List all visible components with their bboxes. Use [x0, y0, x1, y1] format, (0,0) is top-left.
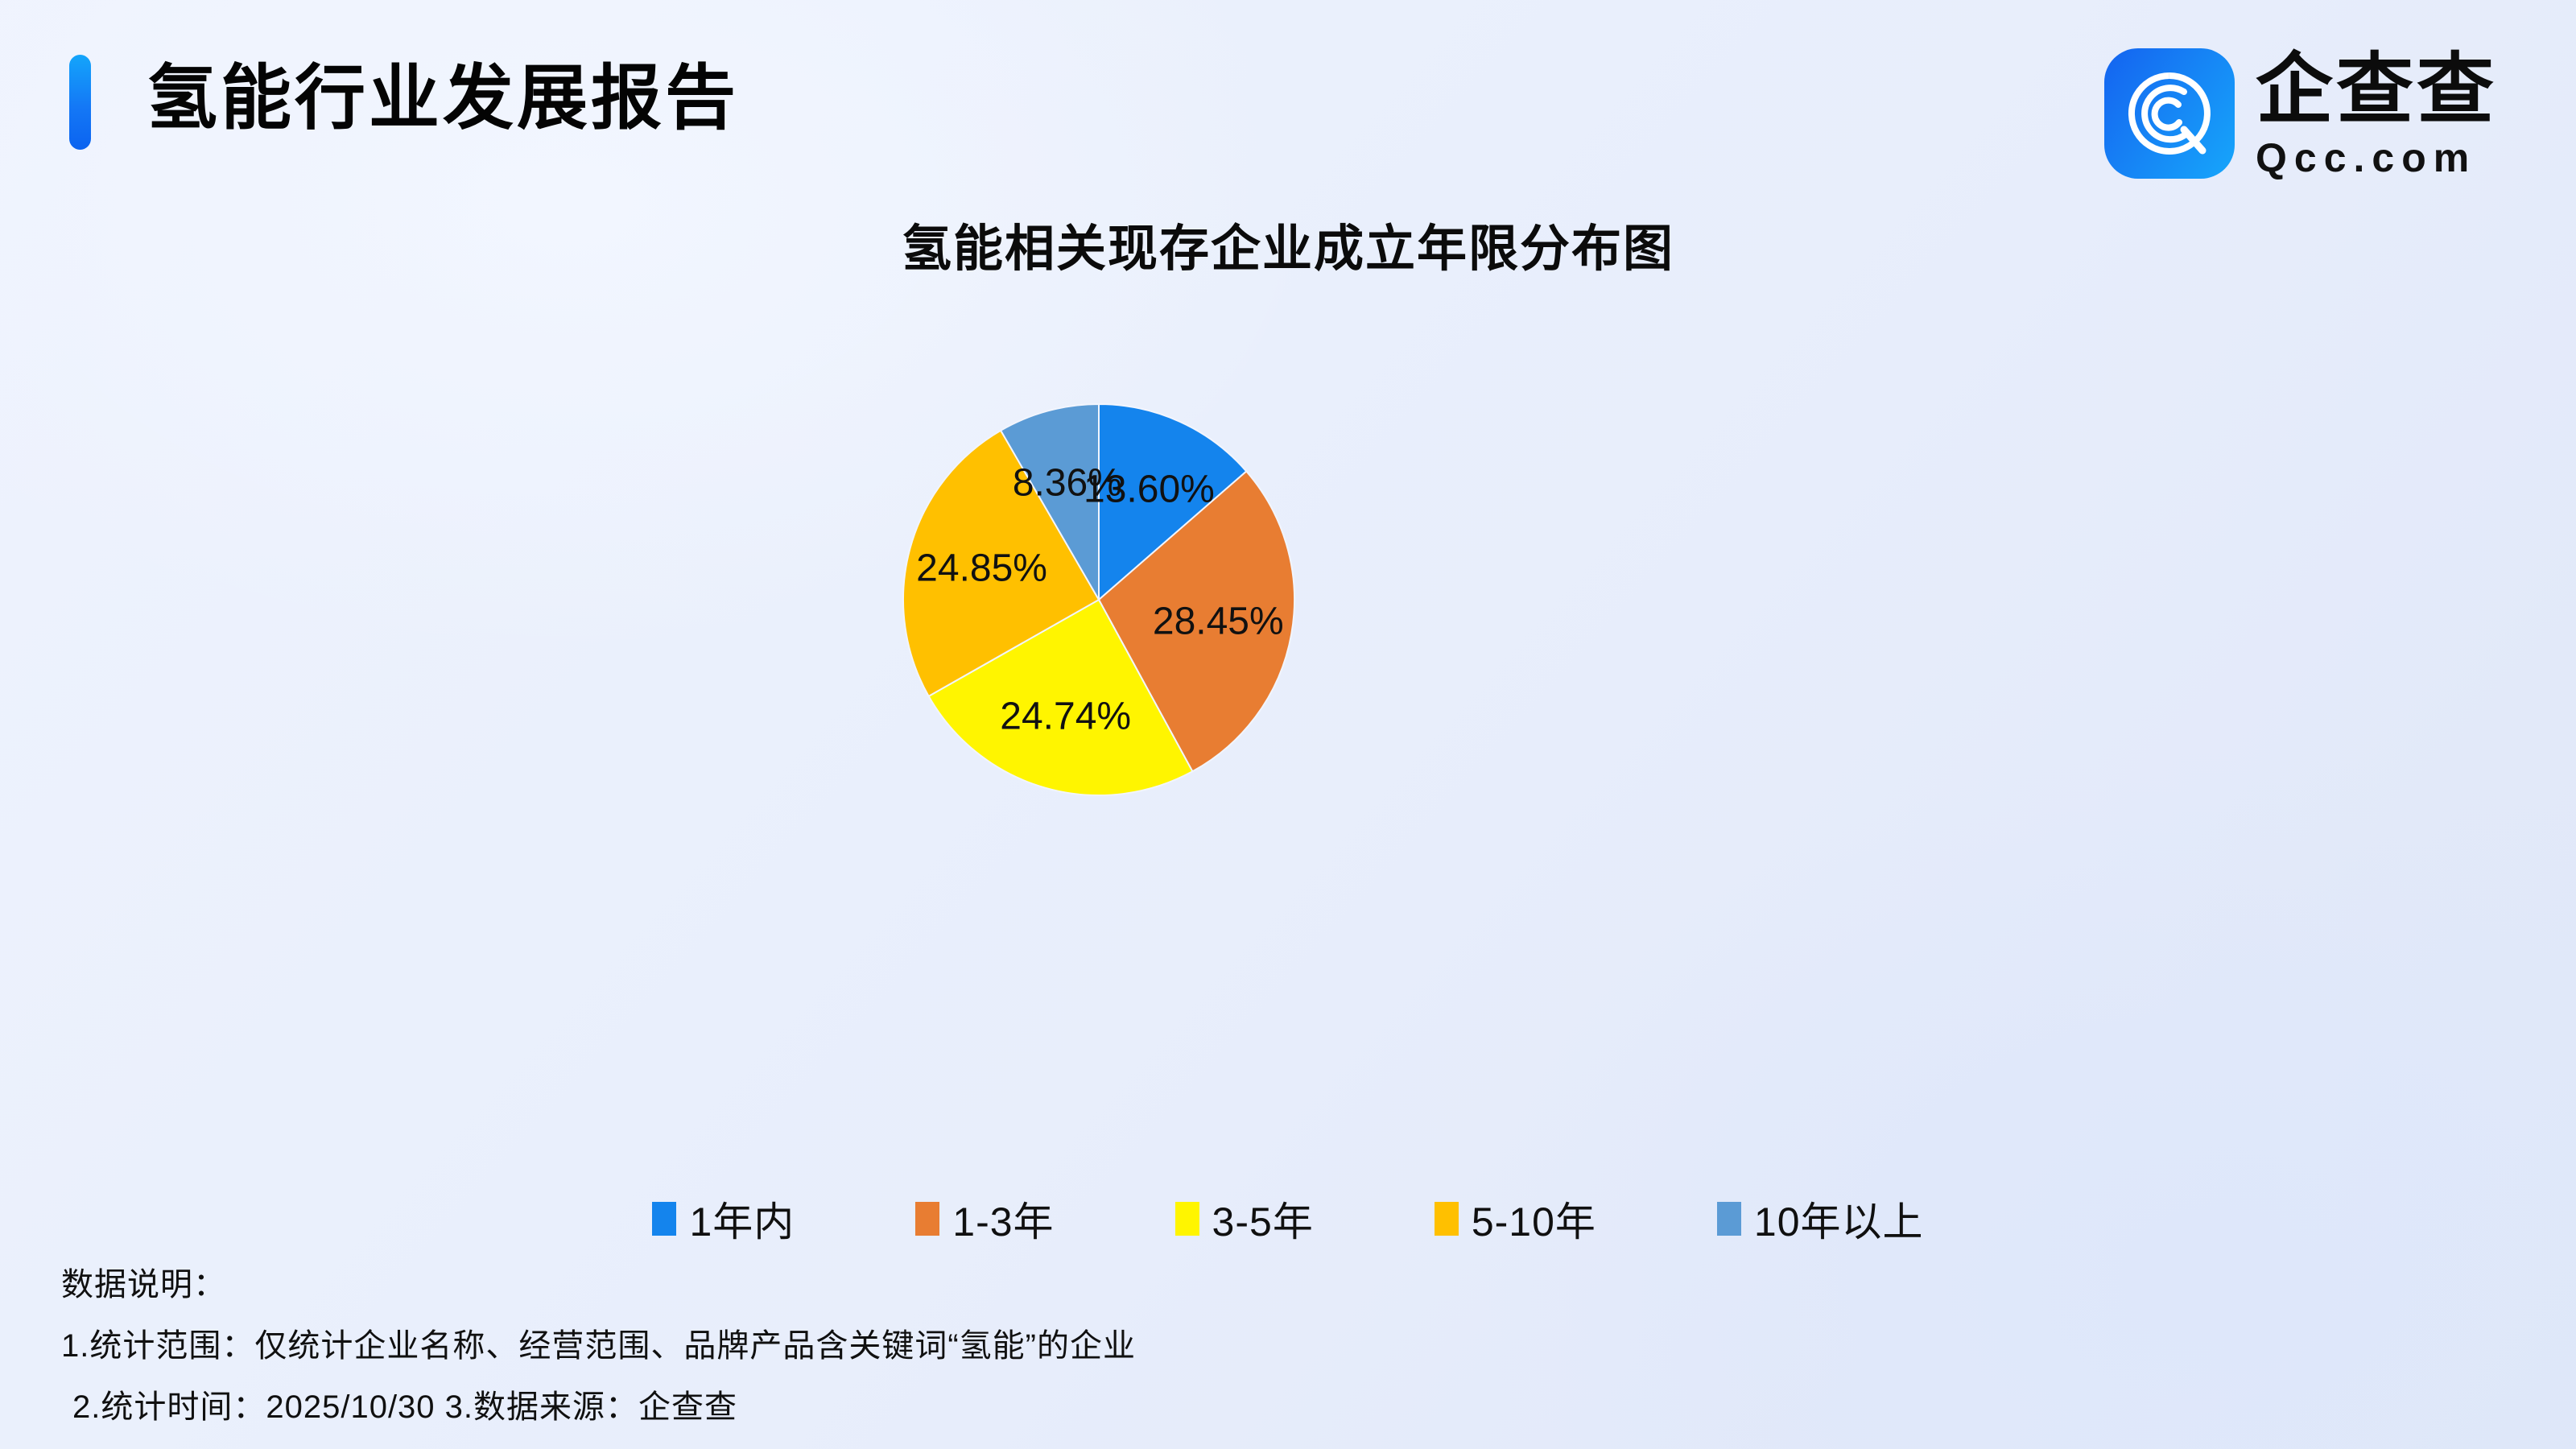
legend-label: 10年以上: [1754, 1190, 1924, 1248]
pie-chart: 13.60%28.45%24.74%24.85%8.36%: [898, 398, 1300, 801]
pie-slice-value-label: 28.45%: [1153, 599, 1284, 643]
data-notes: 数据说明： 1.统计范围：仅统计企业名称、经营范围、品牌产品含关键词“氢能”的企…: [61, 1254, 1993, 1438]
brand-wordmark: 企查查 Qcc.com: [2256, 47, 2497, 180]
brand-logo[interactable]: 企查查 Qcc.com: [2104, 47, 2497, 180]
pie-slice-value-label: 24.74%: [1000, 694, 1131, 738]
page-title: 氢能行业发展报告: [147, 42, 739, 155]
legend-item[interactable]: 5-10年: [1435, 1190, 1596, 1248]
legend-swatch-icon: [1435, 1202, 1459, 1236]
legend-swatch-icon: [1717, 1202, 1741, 1236]
legend-label: 3-5年: [1212, 1190, 1314, 1248]
brand-name-en: Qcc.com: [2256, 135, 2476, 180]
legend-item[interactable]: 3-5年: [1175, 1190, 1314, 1248]
pie-slice-value-label: 8.36%: [1013, 460, 1122, 505]
report-page: 氢能行业发展报告 企查查 Qcc.com 氢能相关现存企业成: [0, 0, 2576, 1449]
legend-swatch-icon: [1175, 1202, 1199, 1236]
notes-line-scope: 1.统计范围：仅统计企业名称、经营范围、品牌产品含关键词“氢能”的企业: [61, 1315, 1993, 1377]
notes-line-time-source: 2.统计时间：2025/10/30 3.数据来源：企查查: [61, 1377, 1993, 1438]
title-accent-bar: [69, 55, 91, 150]
legend-label: 1-3年: [952, 1190, 1054, 1248]
legend-swatch-icon: [652, 1202, 676, 1236]
legend-item[interactable]: 1年内: [652, 1190, 795, 1248]
legend-label: 5-10年: [1472, 1190, 1596, 1248]
legend-swatch-icon: [915, 1202, 939, 1236]
qcc-logo-icon: [2104, 48, 2235, 179]
brand-name-cn: 企查查: [2256, 47, 2497, 134]
page-header: 氢能行业发展报告 企查查 Qcc.com: [0, 0, 2576, 201]
legend-item[interactable]: 10年以上: [1717, 1190, 1924, 1248]
legend-label: 1年内: [689, 1190, 795, 1248]
notes-heading: 数据说明：: [61, 1254, 1993, 1315]
chart-legend: 1年内1-3年3-5年5-10年10年以上: [0, 1190, 2576, 1248]
pie-slice-value-label: 24.85%: [916, 546, 1047, 590]
legend-item[interactable]: 1-3年: [915, 1190, 1054, 1248]
chart-title: 氢能相关现存企业成立年限分布图: [0, 208, 2576, 280]
